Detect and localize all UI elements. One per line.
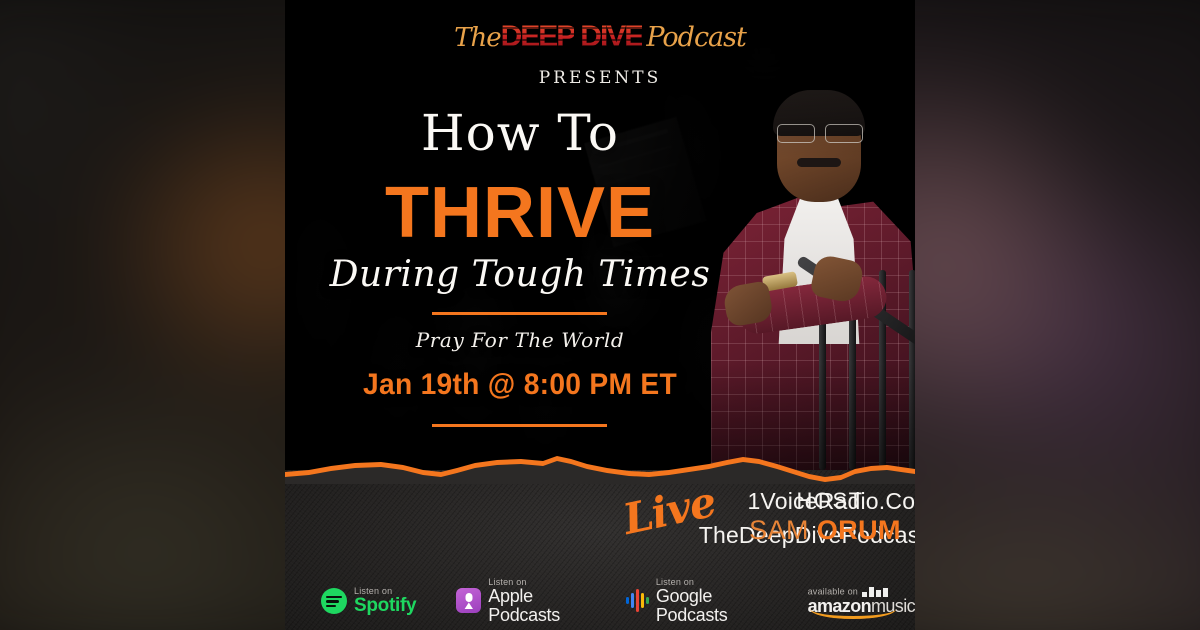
headline-line-3: During Tough Times	[285, 254, 755, 295]
headline-line-2: THRIVE	[285, 172, 755, 254]
amazon-music-icon	[862, 587, 888, 597]
apple-podcasts-name: Apple Podcasts	[488, 587, 586, 624]
event-datetime: Jan 19th @ 8:00 PM ET	[299, 368, 741, 402]
screenshot-stage: TheDEEPDIVEPodcast PRESENTS How To THRIV…	[0, 0, 1200, 630]
podcast-poster-card: TheDEEPDIVEPodcast PRESENTS How To THRIV…	[285, 0, 915, 630]
platform-badge-row: Listen on Spotify Listen on Apple Podcas…	[285, 578, 915, 624]
apple-podcasts-badge[interactable]: Listen on Apple Podcasts	[456, 578, 586, 624]
headline-block: How To THRIVE During Tough Times Pray Fo…	[285, 0, 755, 478]
apple-podcasts-badge-text: Listen on Apple Podcasts	[488, 578, 586, 624]
divider-rule-top	[432, 312, 607, 315]
spotify-icon	[321, 588, 347, 614]
spotify-name: Spotify	[354, 596, 416, 615]
host-last-name: ORUM	[817, 515, 901, 545]
amazon-smile-icon	[810, 609, 896, 619]
amazon-music-badge-text: available on amazonmusic	[808, 587, 915, 615]
divider-rule-bottom	[432, 424, 607, 427]
google-podcasts-badge[interactable]: Listen on Google Podcasts	[626, 578, 764, 624]
spotify-badge-text: Listen on Spotify	[354, 587, 416, 616]
host-label: HOST	[745, 488, 915, 514]
tagline: Pray For The World	[285, 328, 755, 352]
google-podcasts-name: Google Podcasts	[656, 587, 764, 624]
apple-podcasts-icon	[456, 588, 481, 613]
amazon-music-badge[interactable]: available on amazonmusic	[808, 587, 915, 615]
google-podcasts-badge-text: Listen on Google Podcasts	[656, 578, 764, 624]
google-podcasts-icon	[626, 589, 649, 612]
host-first-name: SAM	[749, 515, 809, 545]
spotify-badge[interactable]: Listen on Spotify	[321, 587, 416, 616]
torn-edge-divider	[285, 450, 915, 484]
host-name: SAM ORUM	[725, 515, 915, 546]
headline-line-1: How To	[285, 104, 755, 162]
